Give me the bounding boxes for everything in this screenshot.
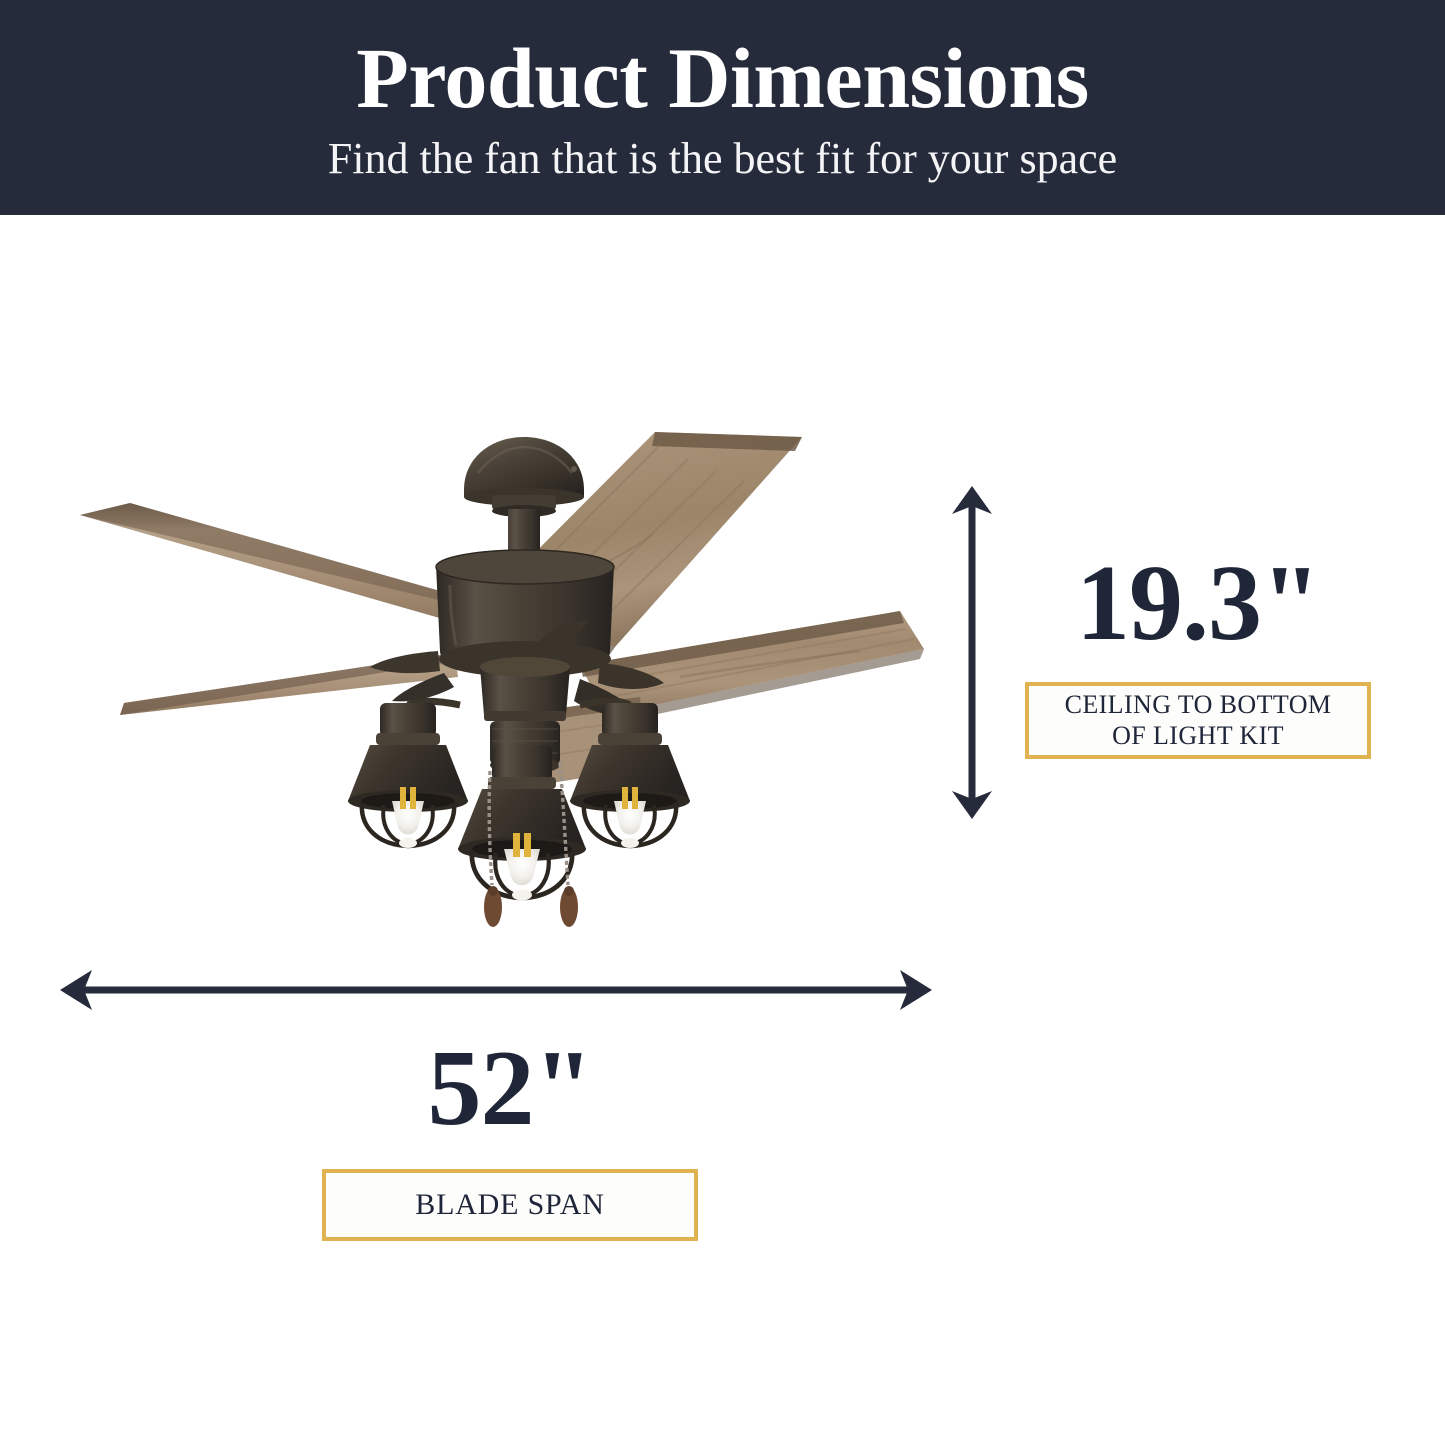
page-subtitle: Find the fan that is the best fit for yo… <box>328 137 1117 181</box>
ceiling-fan-illustration <box>40 415 940 955</box>
page-title: Product Dimensions <box>356 35 1088 121</box>
blade-span-measurement-callout: 52" BLADE SPAN <box>322 1035 698 1241</box>
page-header: Product Dimensions Find the fan that is … <box>0 0 1445 215</box>
height-label-text: CEILING TO BOTTOM OF LIGHT KIT <box>1065 690 1332 751</box>
double-headed-arrow-vertical-icon <box>930 480 1020 825</box>
height-label-line-2: OF LIGHT KIT <box>1065 721 1332 752</box>
diagram-stage: 19.3" CEILING TO BOTTOM OF LIGHT KIT 52"… <box>0 215 1445 1445</box>
height-dimension-arrow <box>930 480 1020 825</box>
fan-blade-upper-left <box>80 503 472 625</box>
ceiling-fan-graphic <box>40 415 940 955</box>
light-fixture-left <box>348 701 468 848</box>
height-label-line-1: CEILING TO BOTTOM <box>1065 690 1332 721</box>
fan-canopy <box>464 437 584 517</box>
blade-span-label-box: BLADE SPAN <box>322 1169 698 1241</box>
double-headed-arrow-horizontal-icon <box>40 960 950 1020</box>
blade-span-label-text: BLADE SPAN <box>415 1187 604 1222</box>
height-measurement-callout: 19.3" CEILING TO BOTTOM OF LIGHT KIT <box>1023 550 1373 759</box>
blade-span-value: 52" <box>428 1035 593 1143</box>
height-label-box: CEILING TO BOTTOM OF LIGHT KIT <box>1025 682 1371 759</box>
height-value: 19.3" <box>1076 550 1320 658</box>
blade-span-dimension-arrow <box>40 960 950 1020</box>
